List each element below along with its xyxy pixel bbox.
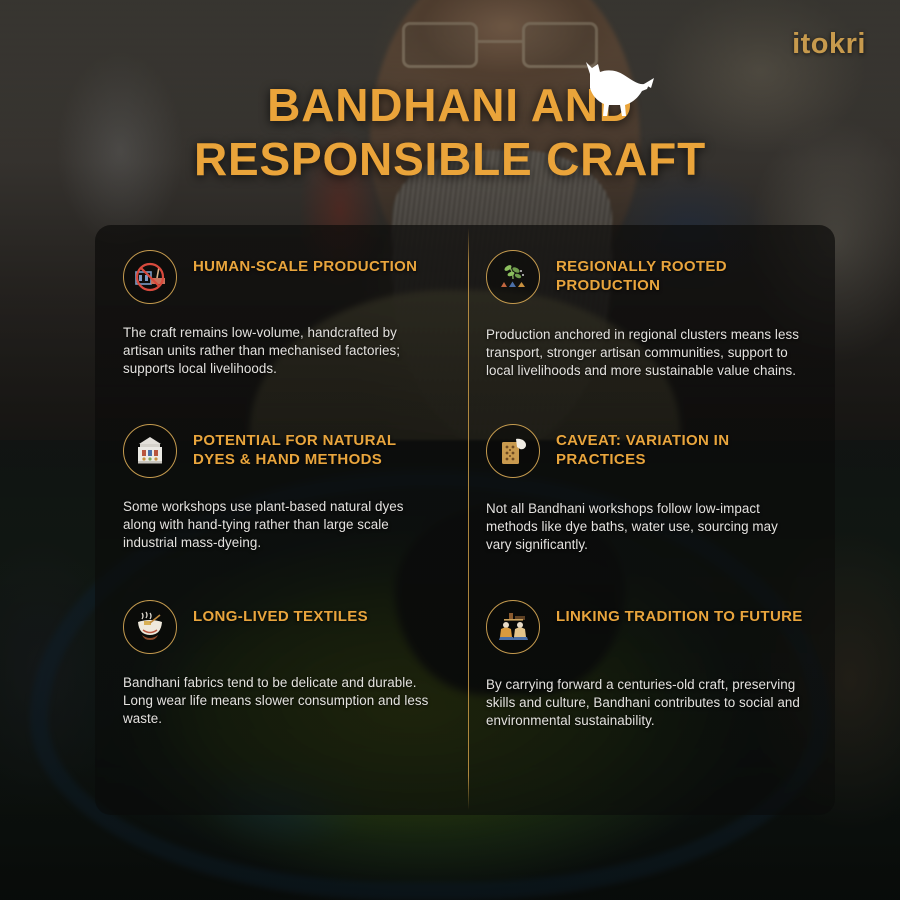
card-body: Not all Bandhani workshops follow low-im… xyxy=(486,500,807,554)
cards-grid: HUMAN-SCALE PRODUCTION The craft remains… xyxy=(95,225,835,815)
card-title: LONG-LIVED TEXTILES xyxy=(193,600,368,626)
card-long-lived-textiles: LONG-LIVED TEXTILES Bandhani fabrics ten… xyxy=(95,575,468,815)
card-title: REGIONALLY ROOTED PRODUCTION xyxy=(556,250,807,295)
card-body: By carrying forward a centuries-old craf… xyxy=(486,676,807,730)
dye-pot-steaming-icon xyxy=(123,600,177,654)
card-regionally-rooted-production: REGIONALLY ROOTED PRODUCTION Production … xyxy=(468,225,835,399)
infographic-poster: itokri BANDHANI AND RESPONSIBLE CRAFT xyxy=(0,0,900,900)
card-title: HUMAN-SCALE PRODUCTION xyxy=(193,250,417,276)
card-header: POTENTIAL FOR NATURAL DYES & HAND METHOD… xyxy=(123,424,440,478)
card-linking-tradition-to-future: LINKING TRADITION TO FUTURE By carrying … xyxy=(468,575,835,815)
card-body: The craft remains low-volume, handcrafte… xyxy=(123,324,440,378)
card-header: LONG-LIVED TEXTILES xyxy=(123,600,440,654)
hand-holding-bandhani-fabric-icon xyxy=(486,424,540,478)
card-title: POTENTIAL FOR NATURAL DYES & HAND METHOD… xyxy=(193,424,440,469)
plant-sprout-mountains-icon xyxy=(486,250,540,304)
page-title: BANDHANI AND RESPONSIBLE CRAFT xyxy=(0,78,900,187)
card-header: CAVEAT: VARIATION IN PRACTICES xyxy=(486,424,807,478)
card-human-scale-production: HUMAN-SCALE PRODUCTION The craft remains… xyxy=(95,225,468,399)
two-artisans-seated-icon xyxy=(486,600,540,654)
card-body: Bandhani fabrics tend to be delicate and… xyxy=(123,674,440,728)
card-caveat-variation-in-practices: CAVEAT: VARIATION IN PRACTICES Not all B… xyxy=(468,399,835,575)
card-header: REGIONALLY ROOTED PRODUCTION xyxy=(486,250,807,304)
card-title: CAVEAT: VARIATION IN PRACTICES xyxy=(556,424,807,469)
card-body: Production anchored in regional clusters… xyxy=(486,326,807,380)
card-body: Some workshops use plant-based natural d… xyxy=(123,498,440,552)
no-factory-icon xyxy=(123,250,177,304)
itokri-logo[interactable]: itokri xyxy=(792,30,866,59)
card-header: LINKING TRADITION TO FUTURE xyxy=(486,600,807,654)
card-natural-dyes-hand-methods: POTENTIAL FOR NATURAL DYES & HAND METHOD… xyxy=(95,399,468,575)
workshop-building-icon xyxy=(123,424,177,478)
card-title: LINKING TRADITION TO FUTURE xyxy=(556,600,803,626)
card-header: HUMAN-SCALE PRODUCTION xyxy=(123,250,440,304)
